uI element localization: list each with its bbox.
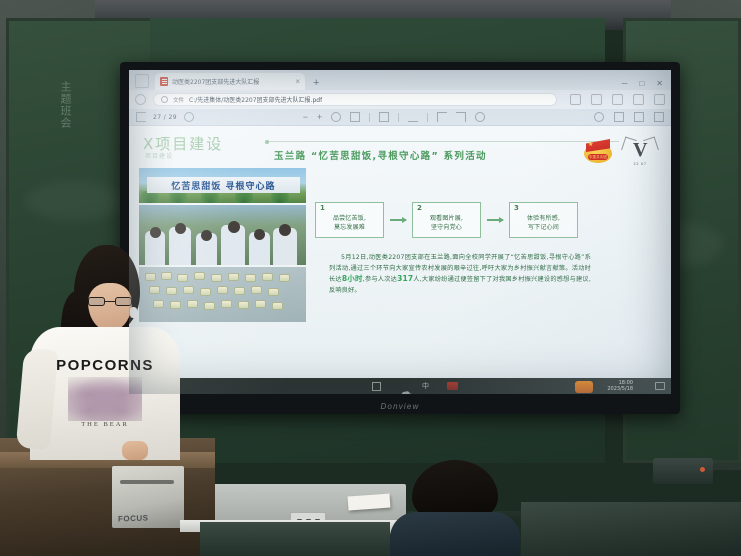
step-line-1: 观看图片展, — [413, 214, 480, 223]
step-box: 1 品尝忆苦饭, 莫忘发展难 — [315, 202, 384, 238]
taskbar-app-icon[interactable] — [575, 381, 593, 393]
papers-on-lectern — [348, 494, 391, 511]
paragraph-part-2: ,参与人次达 — [363, 276, 397, 283]
tab-actions-icon[interactable] — [135, 74, 149, 88]
step-line-1: 品尝忆苦饭, — [316, 214, 383, 223]
rotate-icon[interactable] — [331, 112, 341, 122]
arrow-right-icon — [390, 219, 406, 221]
step-number: 1 — [320, 204, 325, 212]
step-line-2: 莫忘发展难 — [316, 223, 383, 232]
url-text: C:/先进集体/动医类2207团支部先进大队汇报.pdf — [189, 95, 322, 104]
ime-indicator[interactable]: 中 — [422, 382, 431, 391]
star-icon[interactable] — [591, 94, 602, 105]
more-tools-icon[interactable] — [654, 112, 664, 122]
status-led — [700, 467, 705, 472]
toolbar-divider — [427, 113, 428, 122]
page-subtitle: 项目建设 — [145, 151, 173, 160]
sidebar-toggle-icon[interactable] — [136, 112, 146, 122]
banner-strip: 忆苦思甜饭 寻根守心路 — [147, 177, 300, 193]
close-button[interactable]: ✕ — [656, 79, 663, 88]
close-icon[interactable]: × — [295, 78, 300, 86]
browser-tab[interactable]: 动医类2207团支部先进大队汇报 × — [155, 73, 305, 90]
chalk-smudge — [25, 181, 125, 221]
minimize-button[interactable]: ─ — [622, 79, 628, 88]
whiteboard-screen[interactable]: 动医类2207团支部先进大队汇报 × + ─ □ ✕ 文件 — [129, 70, 671, 394]
taskbar-tray[interactable]: ︿ ☁ 中 — [347, 382, 458, 391]
clock-date: 2023/5/18 — [607, 386, 633, 393]
slide-headline: 玉兰路 “忆苦思甜饭,寻根守心路” 系列活动 — [274, 148, 487, 162]
print-icon[interactable] — [634, 112, 644, 122]
highlight-icon[interactable] — [456, 112, 466, 122]
glasses-lens-left — [88, 297, 105, 306]
url-scheme-label: 文件 — [173, 96, 184, 104]
step-text: 品尝忆苦饭, 莫忘发展难 — [316, 214, 383, 232]
volunteer-logo-letter: V — [633, 140, 647, 160]
wall-mounted-device — [653, 458, 713, 484]
toolbar-divider — [369, 113, 370, 122]
pdf-page-content[interactable]: X项目建设 项目建设 玉兰路 “忆苦思甜饭,寻根守心路” 系列活动 ★ 中国共青… — [129, 126, 671, 378]
notification-center-icon[interactable] — [655, 382, 665, 390]
address-bar[interactable]: 文件 C:/先进集体/动医类2207团支部先进大队汇报.pdf — [153, 93, 557, 106]
pdf-toolbar-center[interactable]: − + — [303, 112, 486, 122]
banner-text: 忆苦思甜饭 寻根守心路 — [171, 179, 275, 192]
fit-page-icon[interactable] — [350, 112, 360, 122]
cloud-sync-icon[interactable]: ☁ — [397, 382, 406, 391]
browser-toolbar-right[interactable] — [564, 94, 665, 105]
process-steps: 1 品尝忆苦饭, 莫忘发展难 2 观看图片展, 坚守向党心 — [315, 202, 578, 238]
network-icon[interactable] — [372, 382, 381, 391]
show-hidden-icons-caret[interactable]: ︿ — [347, 382, 356, 391]
step-line-2: 写下记心间 — [510, 223, 577, 232]
browser-tab-strip[interactable]: 动医类2207团支部先进大队汇报 × + ─ □ ✕ — [129, 70, 671, 90]
blackboard-left-text: 主题班会 — [57, 81, 74, 129]
tab-title: 动医类2207团支部先进大队汇报 — [172, 77, 291, 86]
profile-icon[interactable] — [633, 94, 644, 105]
shirt-text-bottom: THE BEAR — [30, 421, 180, 428]
save-icon[interactable] — [614, 112, 624, 122]
language-flag-icon[interactable] — [447, 382, 458, 390]
earbud-icon — [130, 307, 137, 318]
seated-student-back-of-head — [390, 460, 520, 556]
student-shoulders — [390, 512, 520, 556]
communist-youth-league-emblem: ★ 中国共青团 — [583, 138, 613, 165]
podium-computer[interactable]: FOCUS — [112, 466, 184, 528]
search-icon[interactable] — [184, 112, 194, 122]
zoom-out-button[interactable]: − — [303, 113, 308, 122]
zoom-in-button[interactable]: + — [317, 113, 322, 122]
shirt-text-top: POPCORNS — [30, 357, 180, 374]
volunteer-logo-subtext: 22 07 — [623, 162, 657, 166]
arrow-right-icon — [487, 219, 503, 221]
slide-body-paragraph: 5月12日,动医类2207团支部在玉兰路,面向全校同学开展了“忆苦思甜饭,寻根守… — [329, 253, 591, 296]
edge-browser-window[interactable]: 动医类2207团支部先进大队汇报 × + ─ □ ✕ 文件 — [129, 70, 671, 394]
emblem-star: ★ — [588, 142, 593, 148]
emblem-ribbon-text: 中国共青团 — [588, 154, 608, 160]
more-icon[interactable] — [654, 94, 665, 105]
file-info-icon[interactable] — [161, 96, 168, 103]
step-number: 2 — [417, 204, 422, 212]
photo-event-banner: 忆苦思甜饭 寻根守心路 — [139, 168, 306, 203]
seating-row — [200, 522, 390, 556]
comment-icon[interactable] — [594, 112, 604, 122]
pdf-favicon — [160, 77, 168, 86]
refresh-icon[interactable] — [135, 94, 146, 105]
pc-brand-logo: FOCUS — [118, 513, 149, 523]
new-tab-button[interactable]: + — [308, 77, 324, 90]
step-text: 体验有所感, 写下记心间 — [510, 214, 577, 232]
step-box: 3 体验有所感, 写下记心间 — [509, 202, 578, 238]
glasses-bridge — [105, 301, 115, 302]
collections-icon[interactable] — [612, 94, 623, 105]
step-line-2: 坚守向党心 — [413, 223, 480, 232]
shirt-butterfly-graphic — [68, 377, 142, 421]
toolbar-divider — [398, 113, 399, 122]
display-brand-label: Donview — [120, 402, 680, 411]
paragraph-highlight-duration: 8小时 — [342, 274, 363, 283]
read-aloud-icon[interactable] — [570, 94, 581, 105]
erase-icon[interactable] — [475, 112, 485, 122]
presenter-hand — [122, 441, 148, 460]
emblem-ribbon: 中国共青团 — [588, 154, 608, 160]
read-aloud-icon[interactable] — [408, 112, 418, 122]
presenter-student: POPCORNS THE BEAR — [30, 245, 180, 460]
draw-icon[interactable] — [437, 112, 447, 122]
step-number: 3 — [514, 204, 519, 212]
taskbar-clock[interactable]: 18:00 2023/5/18 — [607, 380, 633, 393]
disc-slot — [120, 480, 174, 484]
right-desk — [521, 502, 741, 556]
presenter-glasses — [88, 297, 132, 306]
step-box: 2 观看图片展, 坚守向党心 — [412, 202, 481, 238]
pdf-viewer-toolbar[interactable]: 27 / 29 − + — [129, 109, 671, 126]
title-divider — [269, 141, 619, 142]
volunteer-v-logo: V 22 07 — [623, 137, 657, 166]
step-text: 观看图片展, 坚守向党心 — [413, 214, 480, 232]
browser-navigation-bar[interactable]: 文件 C:/先进集体/动医类2207团支部先进大队汇报.pdf — [129, 90, 671, 109]
page-indicator[interactable]: 27 / 29 — [153, 114, 177, 121]
page-layout-icon[interactable] — [379, 112, 389, 122]
classroom-photo: 主题班会 记录 动医类2207团支部先进大队汇报 × + — [0, 0, 741, 556]
paragraph-highlight-count: 317 — [397, 274, 413, 283]
maximize-button[interactable]: □ — [639, 79, 644, 88]
glasses-lens-right — [115, 297, 132, 306]
interactive-whiteboard[interactable]: 动医类2207团支部先进大队汇报 × + ─ □ ✕ 文件 — [120, 62, 680, 414]
pdf-toolbar-right[interactable] — [594, 112, 664, 122]
window-controls[interactable]: ─ □ ✕ — [622, 79, 671, 90]
step-line-1: 体验有所感, — [510, 214, 577, 223]
